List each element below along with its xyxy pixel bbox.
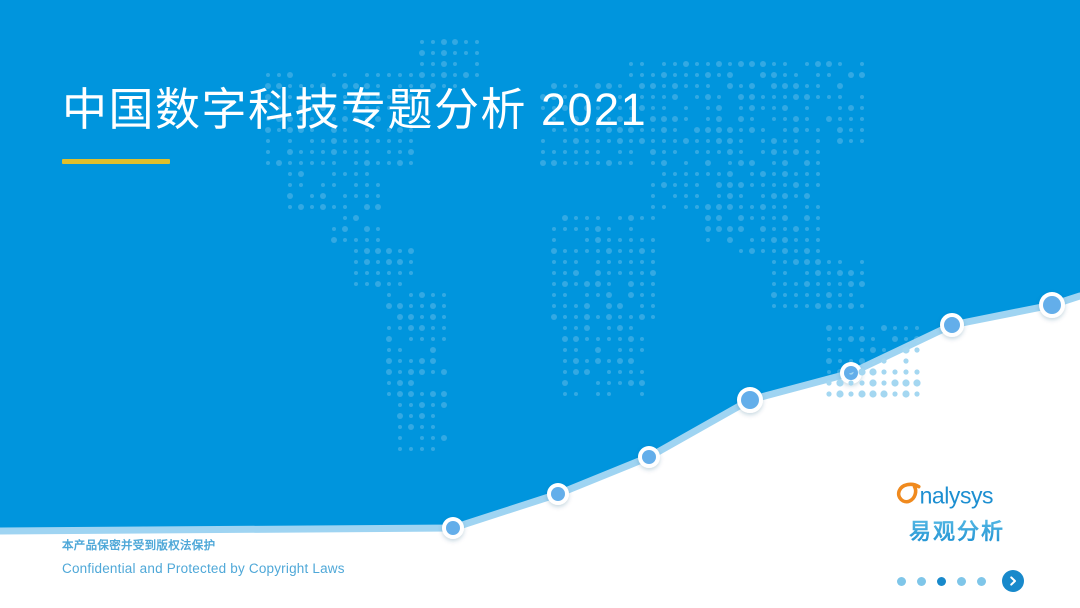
pager-dot-1[interactable]	[897, 577, 906, 586]
slide-pager[interactable]	[897, 570, 1024, 592]
pager-dot-5[interactable]	[977, 577, 986, 586]
confidential-notice: 本产品保密并受到版权法保护 Confidential and Protected…	[62, 538, 345, 580]
next-slide-button[interactable]	[1002, 570, 1024, 592]
confidential-notice-en: Confidential and Protected by Copyright …	[62, 559, 345, 580]
brand-name-cn: 易观分析	[892, 514, 1022, 546]
page-title: 中国数字科技专题分析 2021	[62, 82, 647, 138]
title-block: 中国数字科技专题分析 2021	[62, 82, 647, 164]
pager-dot-2[interactable]	[917, 577, 926, 586]
pager-dot-4[interactable]	[957, 577, 966, 586]
brand-logo: nalysys 易观分析	[892, 479, 1022, 546]
analysys-wordmark: nalysys	[892, 479, 1022, 513]
confidential-notice-cn: 本产品保密并受到版权法保护	[62, 538, 345, 556]
report-cover-slide: 中国数字科技专题分析 2021 本产品保密并受到版权法保护 Confidenti…	[0, 0, 1080, 608]
pager-dot-3[interactable]	[937, 577, 946, 586]
chevron-right-icon	[1007, 575, 1019, 587]
title-underline-rule	[62, 159, 170, 164]
svg-text:nalysys: nalysys	[920, 483, 994, 509]
